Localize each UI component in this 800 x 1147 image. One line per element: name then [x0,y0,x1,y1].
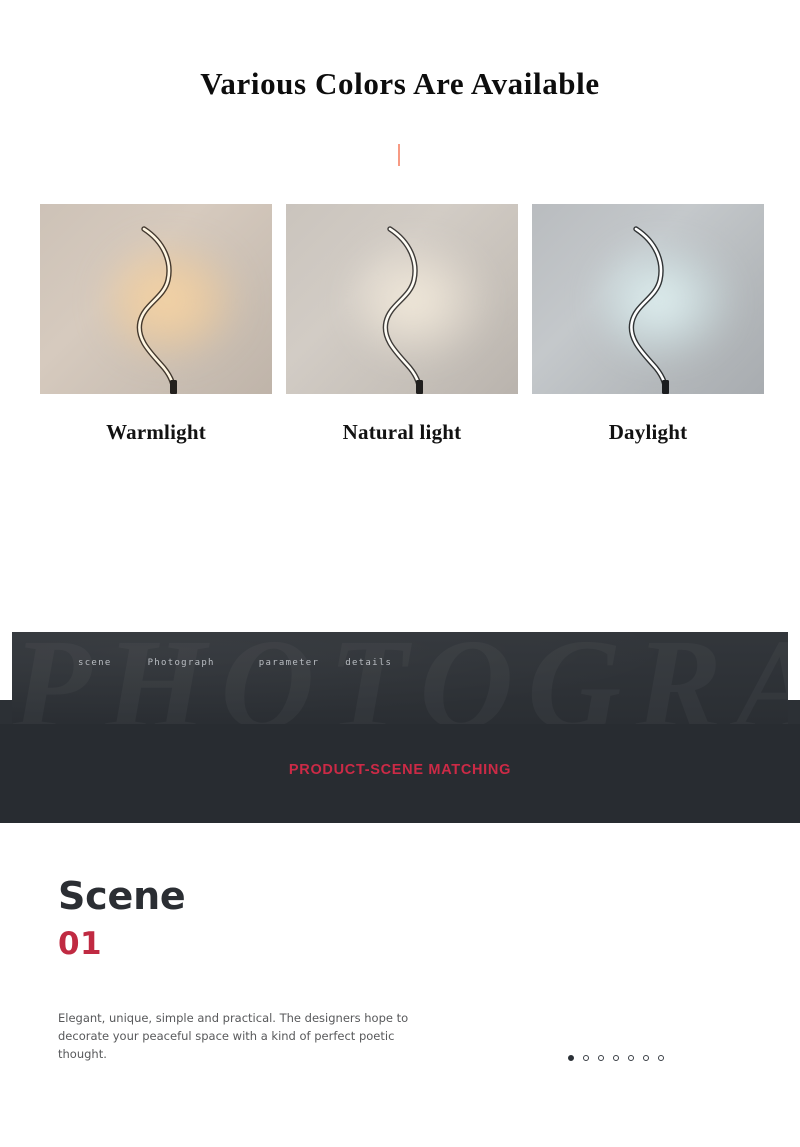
scene-number: 01 [58,926,102,962]
product-detail-page: Various Colors Are Available Warmlight [0,0,800,1147]
banner-heading: PRODUCT-SCENE MATCHING [0,762,800,778]
pagination-dot[interactable] [598,1055,604,1061]
page-title: Various Colors Are Available [0,66,800,102]
pagination-dot[interactable] [643,1055,649,1061]
lamp-photo-natural-light[interactable] [286,204,518,394]
banner-left-notch [0,700,12,724]
carousel-pagination[interactable] [568,1055,664,1061]
scene-section: Scene 01 Elegant, unique, simple and pra… [0,823,800,1147]
lamp-photo-warmlight[interactable] [40,204,272,394]
nav-item-scene[interactable]: scene [78,658,112,668]
nav-item-photograph[interactable]: Photograph [148,658,215,668]
nav-item-parameter[interactable]: parameter [259,658,319,668]
swatch-label: Natural light [286,420,518,445]
banner-nav-band: PHOTOGRAPH [12,632,788,730]
color-swatch-warmlight[interactable]: Warmlight [40,204,272,445]
scene-description: Elegant, unique, simple and practical. T… [58,1009,410,1063]
color-swatch-natural-light[interactable]: Natural light [286,204,518,445]
nav-item-details[interactable]: details [345,658,392,668]
pagination-dot[interactable] [658,1055,664,1061]
swatch-label: Daylight [532,420,764,445]
pagination-dot[interactable] [583,1055,589,1061]
curved-floor-lamp-icon [532,204,764,394]
pagination-dot[interactable] [613,1055,619,1061]
pagination-dot[interactable] [568,1055,574,1061]
banner-right-notch [788,700,800,724]
color-swatch-row: Warmlight Natural light [40,204,764,445]
title-accent-rule [398,144,400,166]
pagination-dot[interactable] [628,1055,634,1061]
curved-floor-lamp-icon [286,204,518,394]
banner-nav: scene Photograph parameter details [78,658,392,668]
scene-heading: Scene [58,874,186,918]
curved-floor-lamp-icon [40,204,272,394]
swatch-label: Warmlight [40,420,272,445]
lamp-photo-daylight[interactable] [532,204,764,394]
banner-watermark-text: PHOTOGRAPH [12,632,788,730]
various-colors-section: Various Colors Are Available Warmlight [0,0,800,620]
color-swatch-daylight[interactable]: Daylight [532,204,764,445]
